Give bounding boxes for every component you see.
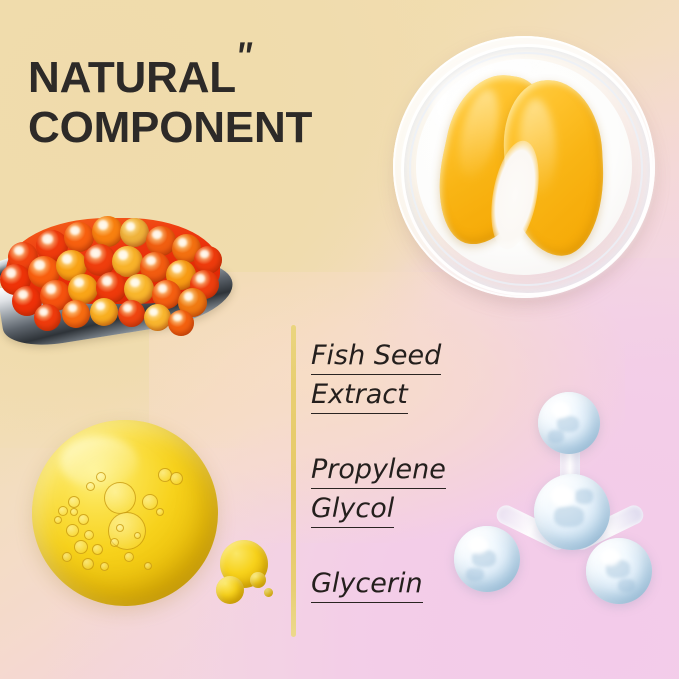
oil-bubble: [104, 482, 136, 514]
oil-bubble: [124, 552, 134, 562]
oil-droplet: [24, 412, 274, 638]
ingredient-line: Propylene: [311, 452, 446, 489]
caviar-on-spoon: [0, 196, 262, 368]
oil-bubble: [84, 530, 94, 540]
eye-patches-in-glass-dish: [385, 22, 667, 327]
ingredient-line: Fish Seed: [311, 338, 441, 375]
oil-bubble: [74, 540, 88, 554]
oil-bubble: [66, 524, 79, 537]
oil-bubble: [110, 538, 119, 547]
oil-bubble: [62, 552, 72, 562]
oil-bubble: [68, 496, 80, 508]
ingredient-line: Extract: [311, 377, 408, 414]
product-ingredient-poster: NATURAL″ COMPONENT: [0, 0, 679, 679]
oil-bubble: [96, 472, 106, 482]
ingredient-line: Glycerin: [311, 566, 423, 603]
oil-bubble: [116, 524, 124, 532]
oil-bubble: [156, 508, 164, 516]
oil-bubble: [58, 506, 68, 516]
oil-satellite-medium: [216, 576, 244, 604]
ingredient-line: Glycol: [311, 491, 394, 528]
page-title: NATURAL″ COMPONENT: [28, 32, 428, 153]
ingredient-item: Fish Seed Extract: [311, 338, 501, 414]
ingredient-item: Propylene Glycol: [311, 452, 501, 528]
oil-bubble: [134, 532, 141, 539]
oil-bubble: [142, 494, 158, 510]
caviar-bead: [118, 300, 145, 327]
oil-bubble: [78, 514, 89, 525]
molecule-atom-top: [538, 392, 600, 454]
title-line-2: COMPONENT: [28, 103, 428, 153]
title-line-1: NATURAL″: [28, 32, 428, 103]
molecule-atom-right: [586, 538, 652, 604]
caviar-bead: [92, 216, 123, 247]
oil-satellite-small: [250, 572, 266, 588]
oil-bubble: [100, 562, 109, 571]
prime-mark: ″: [238, 32, 252, 82]
oil-bubble: [144, 562, 152, 570]
ingredient-list: Fish Seed Extract Propylene Glycol Glyce…: [311, 338, 501, 605]
oil-bubble: [170, 472, 183, 485]
oil-bubble: [70, 508, 78, 516]
caviar-bead: [90, 298, 118, 326]
caviar-bead: [120, 218, 149, 247]
oil-bubble: [86, 482, 95, 491]
gold-divider-bar: [291, 325, 296, 637]
caviar-bead: [62, 300, 90, 328]
caviar-bead: [168, 310, 194, 336]
oil-satellite-tiny: [264, 588, 273, 597]
molecule-atom-center: [534, 474, 610, 550]
caviar-bead: [144, 304, 171, 331]
title-word-natural: NATURAL: [28, 53, 236, 102]
oil-bubble: [54, 516, 62, 524]
ingredient-item: Glycerin: [311, 566, 501, 603]
oil-bubble: [92, 544, 103, 555]
caviar-bead: [34, 304, 61, 331]
oil-bubble: [82, 558, 94, 570]
